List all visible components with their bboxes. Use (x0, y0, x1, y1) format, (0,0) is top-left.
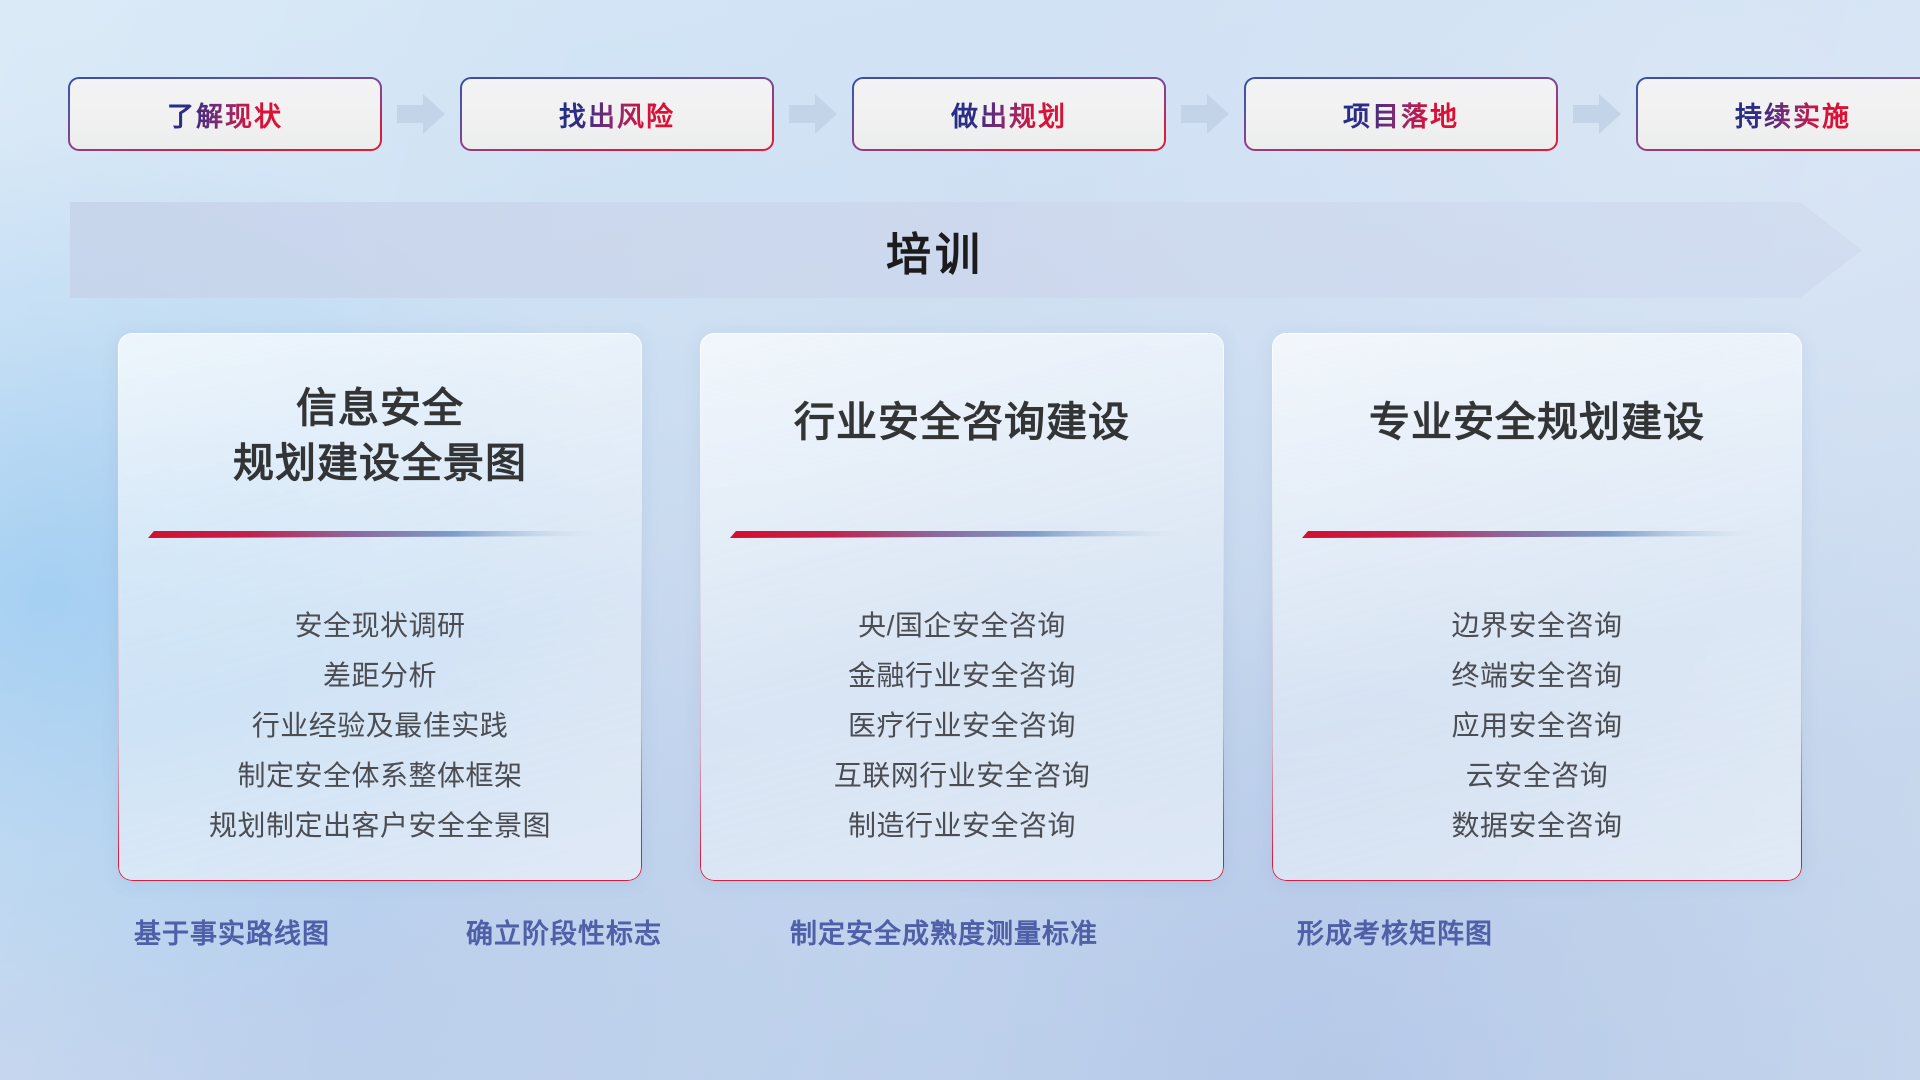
step-box-3[interactable]: 做出规划 (854, 79, 1164, 149)
step-label: 了解现状 (167, 95, 283, 134)
step-box-4[interactable]: 项目落地 (1246, 79, 1556, 149)
list-item: 终端安全咨询 (1272, 651, 1802, 701)
slide-stage: 了解现状 找出风险 做出规划 项目落地 (0, 0, 1920, 1080)
step-box-1[interactable]: 了解现状 (70, 79, 380, 149)
step-label: 做出规划 (951, 95, 1067, 134)
list-item: 应用安全咨询 (1272, 701, 1802, 751)
card-divider (148, 531, 612, 538)
arrow-right-icon (1181, 94, 1229, 134)
step-label: 项目落地 (1343, 95, 1459, 134)
card-title: 信息安全 规划建设全景图 (144, 381, 616, 490)
process-step-row: 了解现状 找出风险 做出规划 项目落地 (70, 76, 1860, 152)
list-item: 差距分析 (118, 651, 642, 701)
card-item-list: 边界安全咨询 终端安全咨询 应用安全咨询 云安全咨询 数据安全咨询 (1272, 601, 1802, 851)
card-divider (730, 531, 1194, 538)
list-item: 边界安全咨询 (1272, 601, 1802, 651)
list-item: 云安全咨询 (1272, 751, 1802, 801)
list-item: 制定安全体系整体框架 (118, 751, 642, 801)
card-info-security-panorama[interactable]: 信息安全 规划建设全景图 (118, 333, 642, 881)
list-item: 数据安全咨询 (1272, 801, 1802, 851)
list-item: 互联网行业安全咨询 (700, 751, 1224, 801)
card-industry-security-consulting[interactable]: 行业安全咨询建设 (700, 333, 1224, 881)
card-title: 专业安全规划建设 (1298, 395, 1776, 450)
card-professional-security-planning[interactable]: 专业安全规划建设 (1272, 333, 1802, 881)
caption-row: 基于事实路线图 确立阶段性标志 制定安全成熟度测量标准 形成考核矩阵图 (0, 912, 1920, 962)
list-item: 规划制定出客户安全全景图 (118, 801, 642, 851)
caption-text: 形成考核矩阵图 (1297, 912, 1493, 951)
arrow-right-icon (397, 94, 445, 134)
list-item: 制造行业安全咨询 (700, 801, 1224, 851)
list-item: 安全现状调研 (118, 601, 642, 651)
caption-text: 基于事实路线图 (134, 912, 330, 951)
step-label: 持续实施 (1735, 95, 1851, 134)
card-row: 信息安全 规划建设全景图 (0, 333, 1920, 883)
banner-title: 培训 (70, 202, 1800, 298)
step-box-5[interactable]: 持续实施 (1638, 79, 1920, 149)
list-item: 央/国企安全咨询 (700, 601, 1224, 651)
training-banner: 培训 (70, 202, 1862, 298)
step-box-2[interactable]: 找出风险 (462, 79, 772, 149)
arrow-right-icon (789, 94, 837, 134)
step-label: 找出风险 (559, 95, 675, 134)
list-item: 医疗行业安全咨询 (700, 701, 1224, 751)
caption-text: 确立阶段性标志 (466, 912, 662, 951)
card-item-list: 央/国企安全咨询 金融行业安全咨询 医疗行业安全咨询 互联网行业安全咨询 制造行… (700, 601, 1224, 851)
arrow-right-icon (1573, 94, 1621, 134)
list-item: 行业经验及最佳实践 (118, 701, 642, 751)
card-title: 行业安全咨询建设 (726, 395, 1198, 450)
list-item: 金融行业安全咨询 (700, 651, 1224, 701)
caption-text: 制定安全成熟度测量标准 (790, 912, 1098, 951)
card-item-list: 安全现状调研 差距分析 行业经验及最佳实践 制定安全体系整体框架 规划制定出客户… (118, 601, 642, 851)
card-divider (1302, 531, 1772, 538)
